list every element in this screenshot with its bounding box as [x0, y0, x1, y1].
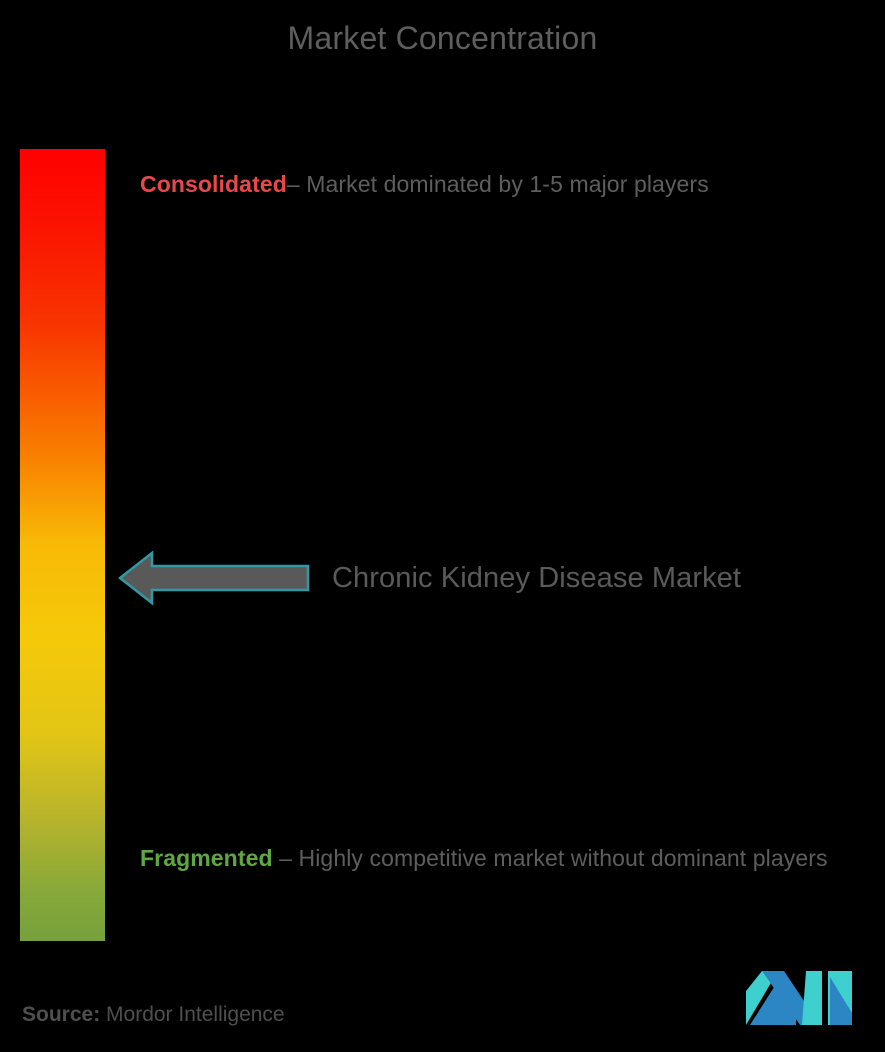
legend-description-fragmented: – Highly competitive market without domi… — [273, 845, 828, 871]
page-title: Market Concentration — [0, 18, 885, 58]
legend-key-fragmented: Fragmented — [140, 845, 273, 871]
concentration-gradient-bar — [20, 149, 105, 941]
market-concentration-chart: Market Concentration Consolidated– Marke… — [0, 0, 885, 1052]
legend-key-consolidated: Consolidated — [140, 171, 287, 197]
legend-item-fragmented: Fragmented – Highly competitive market w… — [140, 828, 850, 888]
legend-item-consolidated: Consolidated– Market dominated by 1-5 ma… — [140, 154, 840, 214]
left-arrow-icon — [118, 550, 310, 606]
market-marker-label: Chronic Kidney Disease Market — [332, 550, 741, 606]
source-label: Source: — [22, 1003, 100, 1026]
mordor-intelligence-logo — [744, 969, 854, 1029]
source-value: Mordor Intelligence — [100, 1003, 284, 1026]
legend-description-consolidated: – Market dominated by 1-5 major players — [287, 171, 709, 197]
market-marker: Chronic Kidney Disease Market — [118, 550, 858, 606]
source-attribution: Source: Mordor Intelligence — [22, 1000, 285, 1030]
